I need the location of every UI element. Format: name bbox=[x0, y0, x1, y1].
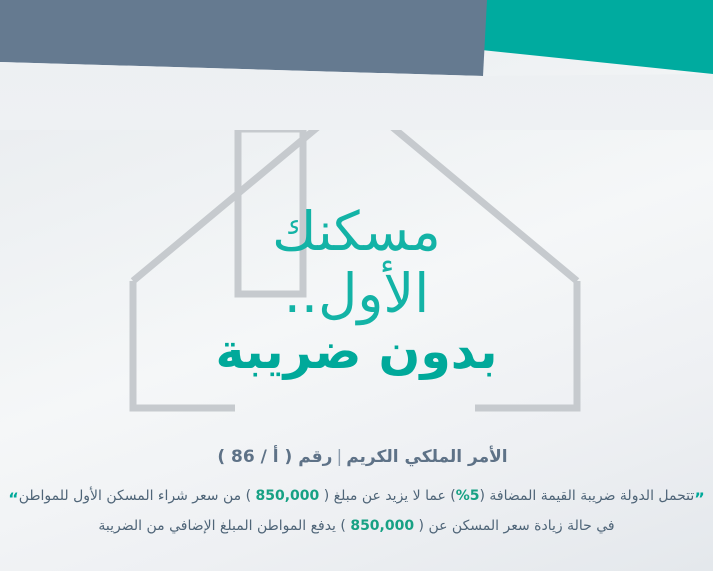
poster-canvas: مسكنك الأول.. بدون ضريبة الأمر الملكي ال… bbox=[0, 0, 713, 571]
decree-number: رقم ( أ / 86 ) bbox=[217, 447, 332, 467]
royal-decree-line: الأمر الملكي الكريم|رقم ( أ / 86 ) bbox=[0, 447, 713, 467]
footer-line1-text-c: ) من سعر شراء المسكن الأول للمواطن bbox=[19, 488, 251, 504]
footer-quote-block: ”تتحمل الدولة ضريبة القيمة المضافة (5%) … bbox=[0, 484, 713, 539]
footer-line1-text-b: ) عما لا يزيد عن مبلغ ( bbox=[324, 488, 456, 504]
footer-amount-value-2: 850,000 bbox=[350, 514, 414, 540]
footer-line2-text-a: في حالة زيادة سعر المسكن عن ( bbox=[419, 518, 615, 534]
footer-percent-value: 5% bbox=[456, 488, 480, 504]
decree-separator: | bbox=[332, 447, 346, 467]
footer-quote-line-2: في حالة زيادة سعر المسكن عن ( 850,000 ) … bbox=[0, 514, 713, 540]
open-quote-mark: ” bbox=[694, 489, 705, 508]
decree-title: الأمر الملكي الكريم bbox=[346, 447, 507, 467]
headline-block: مسكنك الأول.. بدون ضريبة bbox=[0, 205, 713, 376]
footer-line1-text-a: تتحمل الدولة ضريبة القيمة المضافة ( bbox=[480, 488, 695, 504]
footer-quote-line-1: ”تتحمل الدولة ضريبة القيمة المضافة (5%) … bbox=[0, 484, 713, 514]
close-quote-mark: “ bbox=[8, 489, 19, 508]
footer-line2-text-b: ) يدفع المواطن المبلغ الإضافي من الضريبة bbox=[98, 518, 345, 534]
footer-amount-value-1: 850,000 bbox=[255, 484, 319, 510]
headline-line-2: الأول.. bbox=[0, 267, 713, 327]
headline-line-3: بدون ضريبة bbox=[0, 327, 713, 376]
headline-line-1: مسكنك bbox=[0, 205, 713, 267]
